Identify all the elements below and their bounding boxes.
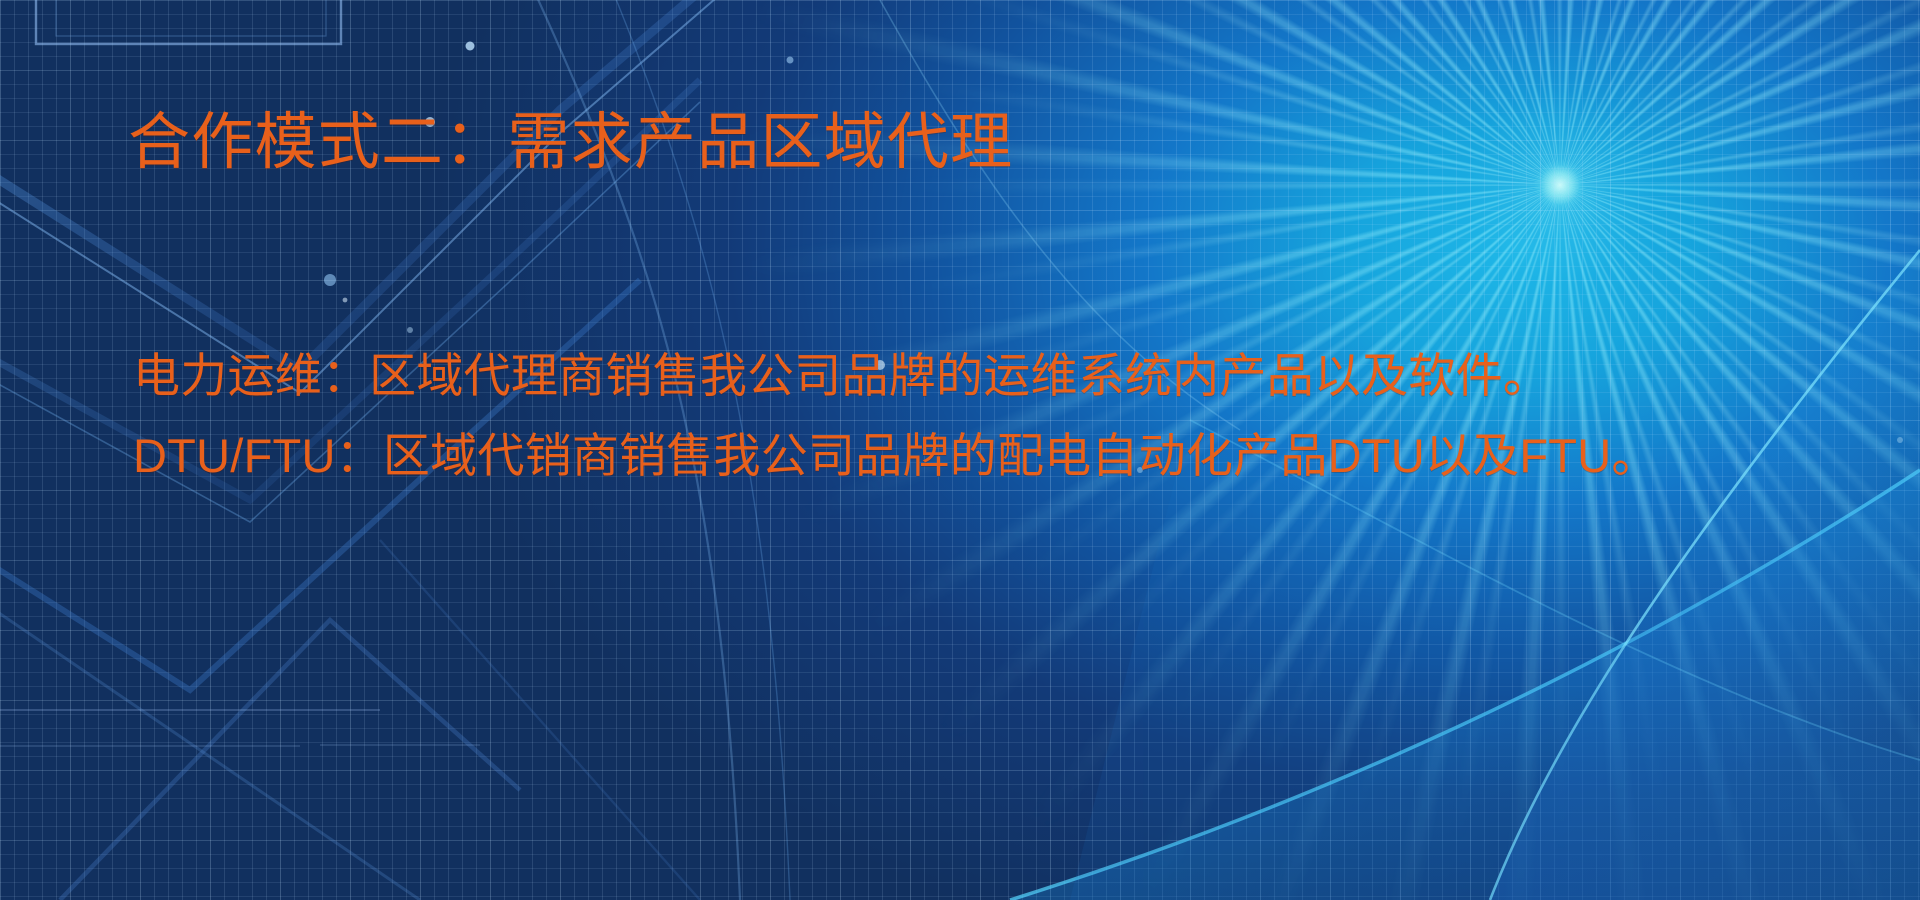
- slide-title: 合作模式二：需求产品区域代理: [128, 110, 1013, 177]
- presentation-slide: 合作模式二：需求产品区域代理 电力运维：区域代理商销售我公司品牌的运维系统内产品…: [0, 0, 1920, 900]
- body-line-dtu-ftu: DTU/FTU：区域代销商销售我公司品牌的配电自动化产品DTU以及FTU。: [133, 432, 1773, 479]
- slide-content: 合作模式二：需求产品区域代理 电力运维：区域代理商销售我公司品牌的运维系统内产品…: [0, 0, 1920, 900]
- body-line-power-ops: 电力运维：区域代理商销售我公司品牌的运维系统内产品以及软件。: [133, 352, 1773, 399]
- slide-body: 电力运维：区域代理商销售我公司品牌的运维系统内产品以及软件。 DTU/FTU：区…: [133, 352, 1773, 479]
